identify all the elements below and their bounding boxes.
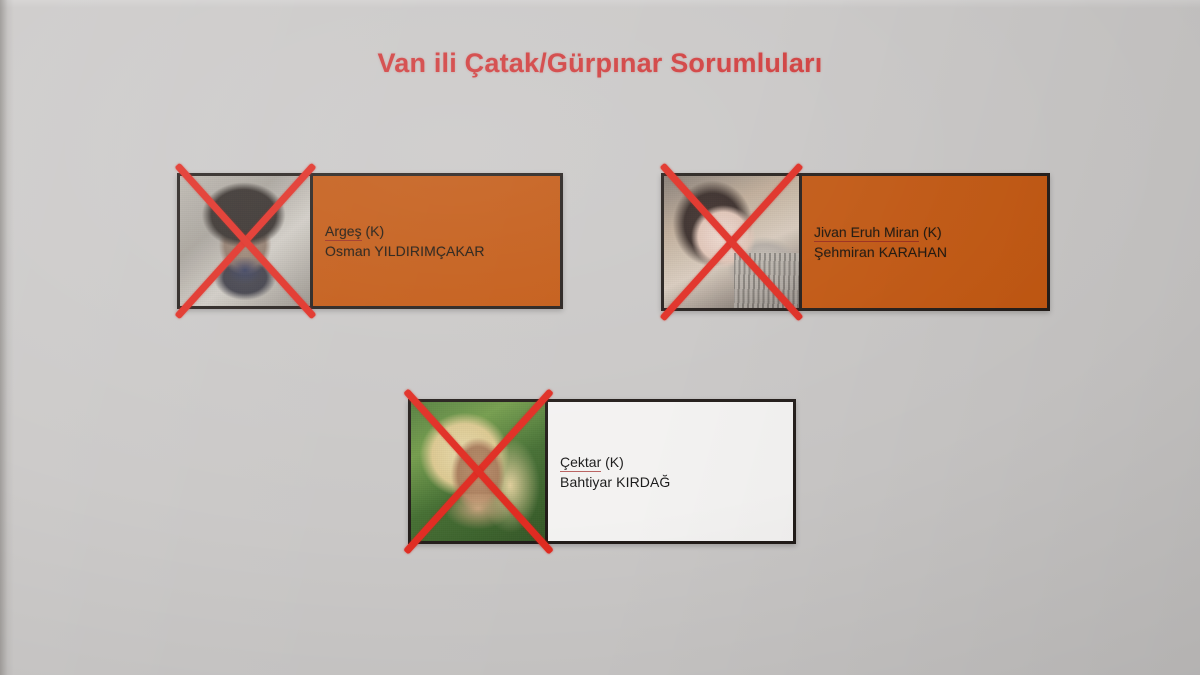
person-info-3: Çektar (K) Bahtiyar KIRDAĞ <box>548 402 793 541</box>
slide-title: Van ili Çatak/Gürpınar Sorumluları <box>0 48 1200 79</box>
person-code-suffix-3: (K) <box>605 454 624 470</box>
person-info-2: Jivan Eruh Miran (K) Şehmiran KARAHAN <box>802 176 1047 308</box>
person-codename-line-1: Argeş (K) <box>325 221 560 241</box>
person-card-2[interactable]: Jivan Eruh Miran (K) Şehmiran KARAHAN <box>661 173 1050 311</box>
person-card-1[interactable]: Argeş (K) Osman YILDIRIMÇAKAR <box>177 173 563 309</box>
person-codename-1: Argeş <box>325 223 362 241</box>
person-codename-line-3: Çektar (K) <box>560 452 793 472</box>
screen-glare-top <box>0 0 1200 8</box>
person-realname-2: Şehmiran KARAHAN <box>814 242 1047 262</box>
person-code-suffix-2: (K) <box>923 224 942 240</box>
person-codename-3: Çektar <box>560 454 601 472</box>
person-realname-1: Osman YILDIRIMÇAKAR <box>325 241 560 261</box>
person-info-1: Argeş (K) Osman YILDIRIMÇAKAR <box>313 176 560 306</box>
person-photo-1 <box>180 176 310 306</box>
person-card-3[interactable]: Çektar (K) Bahtiyar KIRDAĞ <box>408 399 796 544</box>
photo-grain-2 <box>664 176 799 308</box>
person-photo-frame-2 <box>664 176 802 308</box>
presentation-slide: Van ili Çatak/Gürpınar Sorumluları Argeş… <box>0 0 1200 675</box>
person-code-suffix-1: (K) <box>365 223 384 239</box>
person-codename-2: Jivan Eruh Miran <box>814 224 919 242</box>
screen-vignette <box>0 0 1200 675</box>
person-photo-2 <box>664 176 799 308</box>
person-photo-3 <box>411 402 545 541</box>
screen-edge-shadow <box>0 0 14 675</box>
person-codename-line-2: Jivan Eruh Miran (K) <box>814 222 1047 242</box>
photo-grain-1 <box>180 176 310 306</box>
person-realname-3: Bahtiyar KIRDAĞ <box>560 472 793 492</box>
photo-grain-3 <box>411 402 545 541</box>
person-photo-frame-1 <box>180 176 313 306</box>
person-photo-frame-3 <box>411 402 548 541</box>
